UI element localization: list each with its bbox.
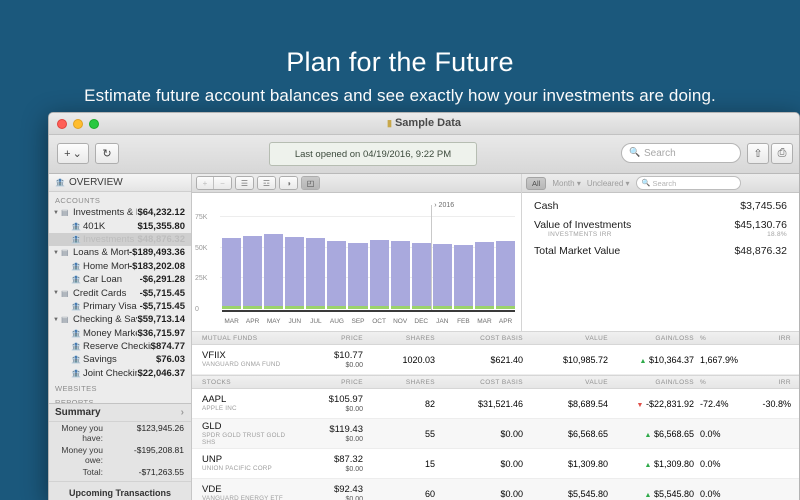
sidebar-account-value: $76.03 — [156, 354, 185, 365]
chart-xtick-label: JUN — [285, 318, 304, 325]
holding-price-change: $0.00 — [287, 465, 363, 474]
chevron-down-icon: ⌄ — [73, 147, 82, 160]
chart-bar-value — [496, 241, 515, 306]
chart-bar-value — [391, 241, 410, 306]
last-opened-banner: Last opened on 04/19/2016, 9:22 PM — [269, 142, 477, 166]
holding-price-change: $0.00 — [287, 405, 363, 414]
chart-ytick-label: 50K — [195, 245, 207, 252]
holding-shares: 82 — [363, 399, 435, 409]
summary-subline-value: 18.8% — [767, 231, 787, 238]
table-column-header[interactable]: SHARES — [363, 335, 435, 342]
summary-row: Money you have:$123,945.26 — [49, 422, 191, 444]
folder-icon: ▤ — [61, 208, 73, 217]
chart-bar-base — [306, 306, 325, 309]
chart-bar[interactable] — [370, 203, 389, 309]
chart-bar[interactable] — [348, 203, 367, 309]
overview-label: OVERVIEW — [69, 177, 123, 188]
holding-value: $6,568.65 — [523, 429, 608, 439]
folder-icon: ▤ — [61, 289, 73, 298]
sidebar-account-row[interactable]: ▼▤Loans & Mortgages-$189,493.36 — [49, 246, 191, 259]
holding-price: $105.97 — [287, 394, 363, 405]
summary-line-value: $48,876.32 — [734, 245, 787, 257]
holding-value: $1,309.80 — [523, 459, 608, 469]
chart-bar-base — [327, 306, 346, 309]
table-group-title: STOCKS — [192, 379, 287, 386]
chart-xtick-label: NOV — [391, 318, 410, 325]
search-input[interactable]: Search — [621, 143, 741, 163]
chart-xtick-label: DEC — [412, 318, 431, 325]
holding-irr: -30.8% — [754, 399, 799, 409]
chart-bar-base — [412, 306, 431, 309]
chevron-right-icon[interactable]: › — [181, 407, 184, 418]
chart-bar-base — [454, 306, 473, 309]
summary-panel: Summary › Money you have:$123,945.26Mone… — [49, 403, 191, 500]
holding-percent: 0.0% — [696, 489, 754, 499]
holding-cost-basis: $31,521.46 — [435, 399, 523, 409]
sidebar-account-name: Investments & Retirement — [73, 207, 137, 218]
holding-price: $92.43 — [287, 484, 363, 495]
chart-bar-base — [496, 306, 515, 309]
summary-row: Total:-$71,263.55 — [49, 466, 191, 478]
holding-company: VANGUARD GNMA FUND — [202, 361, 287, 369]
chart-bar-value — [348, 243, 367, 306]
holding-shares: 55 — [363, 429, 435, 439]
disclosure-triangle-icon[interactable]: ▼ — [53, 250, 61, 256]
main-area: + − ☰ ☲ ◑ ◰ — [192, 174, 799, 500]
summary-line-label: Cash — [534, 200, 559, 212]
investment-summary-line: Cash$3,745.56 — [534, 193, 787, 212]
account-icon: 🏦 — [71, 302, 83, 311]
sidebar-account-row[interactable]: 🏦Savings$76.03 — [49, 353, 191, 366]
summary-line-value: $3,745.56 — [740, 200, 787, 212]
account-icon: 🏦 — [71, 369, 83, 378]
summary-row-amount: -$195,208.81 — [112, 445, 184, 465]
gain-up-icon: ▲ — [640, 358, 647, 365]
promo-header: Plan for the Future Estimate future acco… — [0, 0, 800, 106]
holding-percent: 0.0% — [696, 459, 754, 469]
chart-ytick-label: 25K — [195, 275, 207, 282]
window-titlebar: ▮Sample Data — [49, 113, 799, 135]
share-button[interactable]: ⇧ — [747, 143, 769, 164]
chart-bar-base — [222, 306, 241, 309]
holding-price-change: $0.00 — [287, 495, 363, 500]
holding-gain-loss: ▼ -$22,831.92 — [608, 399, 696, 409]
investment-summary-lines: Cash$3,745.56Value of Investments$45,130… — [534, 193, 787, 257]
gain-up-icon: ▲ — [645, 432, 652, 439]
refresh-icon: ↻ — [102, 147, 111, 160]
print-button[interactable]: ⎙ — [771, 143, 793, 164]
table-column-header[interactable]: SHARES — [363, 379, 435, 386]
chevron-down-icon: ▾ — [577, 179, 581, 188]
summary-row-label: Total: — [49, 467, 112, 477]
holding-symbol: UNP — [202, 454, 287, 465]
window-title-text: Sample Data — [395, 117, 461, 129]
holding-percent: 0.0% — [696, 429, 754, 439]
table-column-header[interactable]: COST BASIS — [435, 379, 523, 386]
table-column-header[interactable]: % — [696, 379, 754, 386]
chart-xtick-label: JAN — [433, 318, 452, 325]
document-icon: ▮ — [387, 118, 392, 128]
sidebar-account-value: $48,876.32 — [137, 234, 185, 245]
summary-subline-label: INVESTMENTS IRR — [548, 231, 612, 238]
page-subtitle: Estimate future account balances and see… — [0, 86, 800, 106]
summary-rows: Money you have:$123,945.26Money you owe:… — [49, 422, 191, 478]
holding-value: $10,985.72 — [523, 355, 608, 365]
chart-xtick-label: OCT — [370, 318, 389, 325]
chart-bar-base — [264, 306, 283, 309]
sidebar-account-row[interactable]: 🏦Home Mortgage-$183,202.08 — [49, 260, 191, 273]
chart-bar[interactable] — [433, 203, 452, 309]
holding-company: UNION PACIFIC CORP — [202, 465, 287, 473]
sidebar-account-row[interactable]: 🏦Reserve Checking$874.77 — [49, 340, 191, 353]
sidebar-account-name: Car Loan — [83, 274, 140, 285]
sidebar-account-value: $59,713.14 — [137, 314, 185, 325]
sidebar-account-name: Loans & Mortgages — [73, 247, 129, 258]
filter-status-label: Uncleared — [587, 179, 623, 188]
chart-bar-value — [370, 240, 389, 306]
holding-price-cell: $87.32$0.00 — [287, 454, 363, 474]
table-row[interactable]: GLDSPDR GOLD TRUST GOLD SHS$119.43$0.005… — [192, 419, 799, 449]
zoom-in-button[interactable]: + — [197, 177, 214, 189]
sidebar-account-value: $36,715.97 — [137, 328, 185, 339]
chart-toolbar: + − ☰ ☲ ◑ ◰ — [192, 174, 521, 193]
add-button[interactable]: + ⌄ — [57, 143, 89, 164]
investment-filter-toolbar: All Month ▾ Uncleared ▾ Search — [522, 174, 799, 193]
last-opened-text: Last opened on 04/19/2016, 9:22 PM — [295, 149, 451, 160]
chart-pane: + − ☰ ☲ ◑ ◰ — [192, 174, 522, 331]
app-window: ▮Sample Data + ⌄ ↻ Last opened on 04/19/… — [48, 112, 800, 500]
view-globe-control[interactable]: ◑ — [279, 176, 298, 190]
account-icon: 🏦 — [71, 329, 83, 338]
sidebar-account-row[interactable]: 🏦401K$15,355.80 — [49, 219, 191, 232]
filter-all-button[interactable]: All — [526, 177, 546, 190]
summary-line-label: Total Market Value — [534, 245, 620, 257]
view-list-button[interactable]: ☰ — [236, 177, 253, 189]
investment-summary-line: Total Market Value$48,876.32 — [534, 238, 787, 257]
overview-top: + − ☰ ☲ ◑ ◰ — [192, 174, 799, 331]
sidebar: 🏦 OVERVIEW ACCOUNTS ▼▤Investments & Reti… — [49, 174, 192, 500]
holding-percent: -72.4% — [696, 399, 754, 409]
summary-row-amount: $123,945.26 — [112, 423, 184, 443]
chart-xtick-label: APR — [496, 318, 515, 325]
table-group-header: STOCKSPRICESHARESCOST BASISVALUEGAIN/LOS… — [192, 375, 799, 389]
chart-xtick-label: AUG — [327, 318, 346, 325]
chart-xtick-label: JUL — [306, 318, 325, 325]
chart-year-label: › 2016 — [434, 202, 454, 209]
holding-price-cell: $92.43$0.00 — [287, 484, 363, 500]
holding-symbol: AAPL — [202, 394, 287, 405]
summary-row-label: Money you have: — [49, 423, 112, 443]
holding-symbol: VDE — [202, 484, 287, 495]
print-icon: ⎙ — [778, 147, 787, 160]
holding-name-cell: UNPUNION PACIFIC CORP — [192, 454, 287, 473]
view-globe-button[interactable]: ◑ — [280, 177, 297, 189]
sidebar-account-name: Primary Visa — [83, 301, 140, 312]
holding-gain-loss: ▲ $6,568.65 — [608, 429, 696, 439]
holding-company: APPLE INC — [202, 405, 287, 413]
view-flow-control[interactable]: ☲ — [257, 176, 276, 190]
table-row[interactable]: AAPLAPPLE INC$105.97$0.0082$31,521.46$8,… — [192, 389, 799, 419]
zoom-segmented-control[interactable]: + − — [196, 176, 232, 190]
sidebar-account-value: -$5,715.45 — [140, 301, 185, 312]
chart-bar-value — [264, 234, 283, 306]
holding-price-cell: $10.77$0.00 — [287, 350, 363, 370]
holding-price-cell: $105.97$0.00 — [287, 394, 363, 414]
disclosure-triangle-icon[interactable]: ▼ — [53, 210, 61, 216]
chart-year-marker — [431, 205, 432, 310]
holding-value: $5,545.80 — [523, 489, 608, 499]
sidebar-account-name: Joint Checking — [83, 368, 137, 379]
chart-bar-base — [348, 306, 367, 309]
sidebar-account-row[interactable]: 🏦Investments$48,876.32 — [49, 233, 191, 246]
summary-title: Summary — [55, 407, 101, 418]
account-icon: 🏦 — [71, 262, 83, 271]
holding-price-change: $0.00 — [287, 435, 363, 444]
view-segmented-control[interactable]: ☰ — [235, 176, 254, 190]
chart-xtick-label: MAR — [222, 318, 241, 325]
sidebar-overview-header[interactable]: 🏦 OVERVIEW — [49, 174, 191, 192]
table-column-header[interactable]: GAIN/LOSS — [608, 379, 696, 386]
account-icon: 🏦 — [71, 275, 83, 284]
chart-bar-base — [475, 306, 494, 309]
sidebar-account-value: $22,046.37 — [137, 368, 185, 379]
table-column-header[interactable]: VALUE — [523, 335, 608, 342]
disclosure-triangle-icon[interactable]: ▼ — [53, 290, 61, 296]
investment-summary-pane: All Month ▾ Uncleared ▾ Search — [522, 174, 799, 331]
sidebar-account-value: $15,355.80 — [137, 221, 185, 232]
summary-row: Money you owe:-$195,208.81 — [49, 444, 191, 466]
sidebar-account-row[interactable]: ▼▤Checking & Savings$59,713.14 — [49, 313, 191, 326]
sidebar-account-row[interactable]: ▼▤Investments & Retirement$64,232.12 — [49, 206, 191, 219]
holding-price-change: $0.00 — [287, 361, 363, 370]
sidebar-account-value: $64,232.12 — [137, 207, 185, 218]
chart-ytick-label: 75K — [195, 214, 207, 221]
refresh-button[interactable]: ↻ — [95, 143, 119, 164]
chart-bar[interactable] — [454, 203, 473, 309]
table-row[interactable]: UNPUNION PACIFIC CORP$87.32$0.0015$0.00$… — [192, 449, 799, 479]
chart-bar[interactable] — [243, 203, 262, 309]
table-column-header[interactable]: % — [696, 335, 754, 342]
filter-period-label: Month — [552, 179, 574, 188]
table-group-header: MUTUAL FUNDSPRICESHARESCOST BASISVALUEGA… — [192, 331, 799, 345]
holding-name-cell: VDEVANGUARD ENERGY ETF — [192, 484, 287, 500]
sidebar-account-row[interactable]: 🏦Money Market$36,715.97 — [49, 327, 191, 340]
summary-row-label: Money you owe: — [49, 445, 112, 465]
chart-xtick-labels: MARAPRMAYJUNJULAUGSEPOCTNOVDECJANFEBMARA… — [222, 318, 515, 325]
view-chart-button[interactable]: ◰ — [302, 177, 319, 189]
chart-bar-value — [222, 238, 241, 306]
table-row[interactable]: VFIIXVANGUARD GNMA FUND$10.77$0.001020.0… — [192, 345, 799, 375]
search-placeholder: Search — [653, 179, 677, 188]
filter-status-menu[interactable]: Uncleared ▾ — [587, 179, 630, 188]
table-column-header[interactable]: IRR — [754, 335, 799, 342]
chart-bar[interactable] — [264, 203, 283, 309]
sidebar-account-name: Reserve Checking — [83, 341, 151, 352]
holding-cost-basis: $0.00 — [435, 429, 523, 439]
chart-xtick-label: FEB — [454, 318, 473, 325]
holding-company: VANGUARD ENERGY ETF — [202, 495, 287, 500]
chart-bar-value — [327, 241, 346, 306]
holding-shares: 60 — [363, 489, 435, 499]
chart-bar-base — [433, 306, 452, 309]
chart-xtick-label: MAR — [475, 318, 494, 325]
sidebar-account-row[interactable]: ▼▤Credit Cards-$5,715.45 — [49, 286, 191, 299]
chart-bar-value — [454, 245, 473, 306]
section-label-websites: WEBSITES — [49, 380, 191, 394]
account-icon: 🏦 — [71, 355, 83, 364]
window-content: 🏦 OVERVIEW ACCOUNTS ▼▤Investments & Reti… — [49, 174, 799, 500]
chart-xtick-label: SEP — [348, 318, 367, 325]
accounts-list: ▼▤Investments & Retirement$64,232.12🏦401… — [49, 206, 191, 380]
table-column-header[interactable]: IRR — [754, 379, 799, 386]
chart-bar[interactable] — [327, 203, 346, 309]
holding-price: $87.32 — [287, 454, 363, 465]
disclosure-triangle-icon[interactable]: ▼ — [53, 317, 61, 323]
summary-line-value: $45,130.76 — [734, 219, 787, 231]
sidebar-account-name: Checking & Savings — [73, 314, 137, 325]
chart-ytick-label: 0 — [195, 306, 199, 313]
holding-shares: 1020.03 — [363, 355, 435, 365]
chart-bar[interactable] — [391, 203, 410, 309]
chart-bar-base — [243, 306, 262, 309]
chart-bars — [222, 203, 515, 309]
bank-icon: 🏦 — [55, 178, 65, 187]
chart-bar-base — [391, 306, 410, 309]
chart-bar[interactable] — [475, 203, 494, 309]
page-title: Plan for the Future — [0, 47, 800, 78]
summary-line-label: Value of Investments — [534, 219, 631, 231]
sidebar-account-row[interactable]: 🏦Joint Checking$22,046.37 — [49, 367, 191, 380]
gain-up-icon: ▲ — [645, 462, 652, 469]
balance-bar-chart: 025K50K75KMARAPRMAYJUNJULAUGSEPOCTNOVDEC… — [192, 193, 521, 331]
view-flow-button[interactable]: ☲ — [258, 177, 275, 189]
view-chart-control[interactable]: ◰ — [301, 176, 320, 190]
chart-bar[interactable] — [496, 203, 515, 309]
sidebar-account-value: -$189,493.36 — [129, 247, 185, 258]
loss-down-icon: ▼ — [637, 402, 644, 409]
chart-bar-base — [370, 306, 389, 309]
holding-symbol: VFIIX — [202, 350, 287, 361]
chart-xtick-label: APR — [243, 318, 262, 325]
sidebar-account-value: $874.77 — [151, 341, 185, 352]
sidebar-account-row[interactable]: 🏦Primary Visa-$5,715.45 — [49, 300, 191, 313]
zoom-out-button[interactable]: − — [214, 177, 231, 189]
account-icon: 🏦 — [71, 235, 83, 244]
chevron-down-icon: ▾ — [626, 179, 630, 188]
gain-up-icon: ▲ — [645, 492, 652, 499]
folder-icon: ▤ — [61, 315, 73, 324]
sidebar-account-value: -$5,715.45 — [140, 288, 185, 299]
sidebar-account-row[interactable]: 🏦Car Loan-$6,291.28 — [49, 273, 191, 286]
table-row[interactable]: VDEVANGUARD ENERGY ETF$92.43$0.0060$0.00… — [192, 479, 799, 500]
table-column-header[interactable]: VALUE — [523, 379, 608, 386]
share-icon: ⇧ — [753, 147, 762, 160]
sidebar-account-name: Savings — [83, 354, 156, 365]
chart-bar[interactable] — [285, 203, 304, 309]
investment-summary-line: Value of Investments$45,130.76INVESTMENT… — [534, 212, 787, 238]
holding-gain-loss: ▲ $10,364.37 — [608, 355, 696, 365]
holding-value: $8,689.54 — [523, 399, 608, 409]
filter-period-menu[interactable]: Month ▾ — [552, 179, 580, 188]
holding-name-cell: AAPLAPPLE INC — [192, 394, 287, 413]
holding-cost-basis: $0.00 — [435, 489, 523, 499]
holding-percent: 1,667.9% — [696, 355, 754, 365]
holding-name-cell: VFIIXVANGUARD GNMA FUND — [192, 350, 287, 369]
sidebar-account-name: Credit Cards — [73, 288, 140, 299]
holdings-table: MUTUAL FUNDSPRICESHARESCOST BASISVALUEGA… — [192, 331, 799, 500]
account-icon: 🏦 — [71, 342, 83, 351]
sidebar-account-name: Investments — [83, 234, 137, 245]
holding-price: $119.43 — [287, 424, 363, 435]
account-icon: 🏦 — [71, 222, 83, 231]
chart-bar-value — [306, 238, 325, 306]
chart-bar-value — [412, 243, 431, 306]
chart-bar-value — [475, 242, 494, 306]
sidebar-account-value: -$183,202.08 — [129, 261, 185, 272]
sidebar-account-value: -$6,291.28 — [140, 274, 185, 285]
sidebar-account-name: Money Market — [83, 328, 137, 339]
chart-bar-value — [243, 236, 262, 306]
holding-company: SPDR GOLD TRUST GOLD SHS — [202, 432, 287, 447]
search-placeholder: Search — [644, 148, 676, 159]
table-column-header[interactable]: PRICE — [287, 379, 363, 386]
investment-search-input[interactable]: Search — [636, 176, 741, 190]
chart-bar-value — [433, 244, 452, 306]
holding-price-cell: $119.43$0.00 — [287, 424, 363, 444]
chart-xtick-label: MAY — [264, 318, 283, 325]
main-toolbar: + ⌄ ↻ Last opened on 04/19/2016, 9:22 PM… — [49, 135, 799, 174]
chart-bar-value — [285, 237, 304, 306]
table-column-header[interactable]: PRICE — [287, 335, 363, 342]
chart-xaxis — [222, 310, 515, 312]
summary-row-amount: -$71,263.55 — [112, 467, 184, 477]
holding-price: $10.77 — [287, 350, 363, 361]
folder-icon: ▤ — [61, 248, 73, 257]
sidebar-account-name: Home Mortgage — [83, 261, 129, 272]
chart-bar[interactable] — [222, 203, 241, 309]
section-label-accounts: ACCOUNTS — [49, 192, 191, 206]
window-title: ▮Sample Data — [49, 117, 799, 129]
holding-symbol: GLD — [202, 421, 287, 432]
chart-bar[interactable] — [306, 203, 325, 309]
holding-cost-basis: $0.00 — [435, 459, 523, 469]
chart-bar-base — [285, 306, 304, 309]
chart-bar[interactable] — [412, 203, 431, 309]
sidebar-account-name: 401K — [83, 221, 137, 232]
holding-gain-loss: ▲ $5,545.80 — [608, 489, 696, 499]
holding-gain-loss: ▲ $1,309.80 — [608, 459, 696, 469]
upcoming-transactions-title: Upcoming Transactions — [49, 481, 191, 500]
holding-name-cell: GLDSPDR GOLD TRUST GOLD SHS — [192, 421, 287, 447]
holding-shares: 15 — [363, 459, 435, 469]
add-label: + — [64, 148, 70, 160]
table-column-header[interactable]: GAIN/LOSS — [608, 335, 696, 342]
table-column-header[interactable]: COST BASIS — [435, 335, 523, 342]
holding-cost-basis: $621.40 — [435, 355, 523, 365]
summary-header[interactable]: Summary › — [49, 404, 191, 422]
table-group-title: MUTUAL FUNDS — [192, 335, 287, 342]
